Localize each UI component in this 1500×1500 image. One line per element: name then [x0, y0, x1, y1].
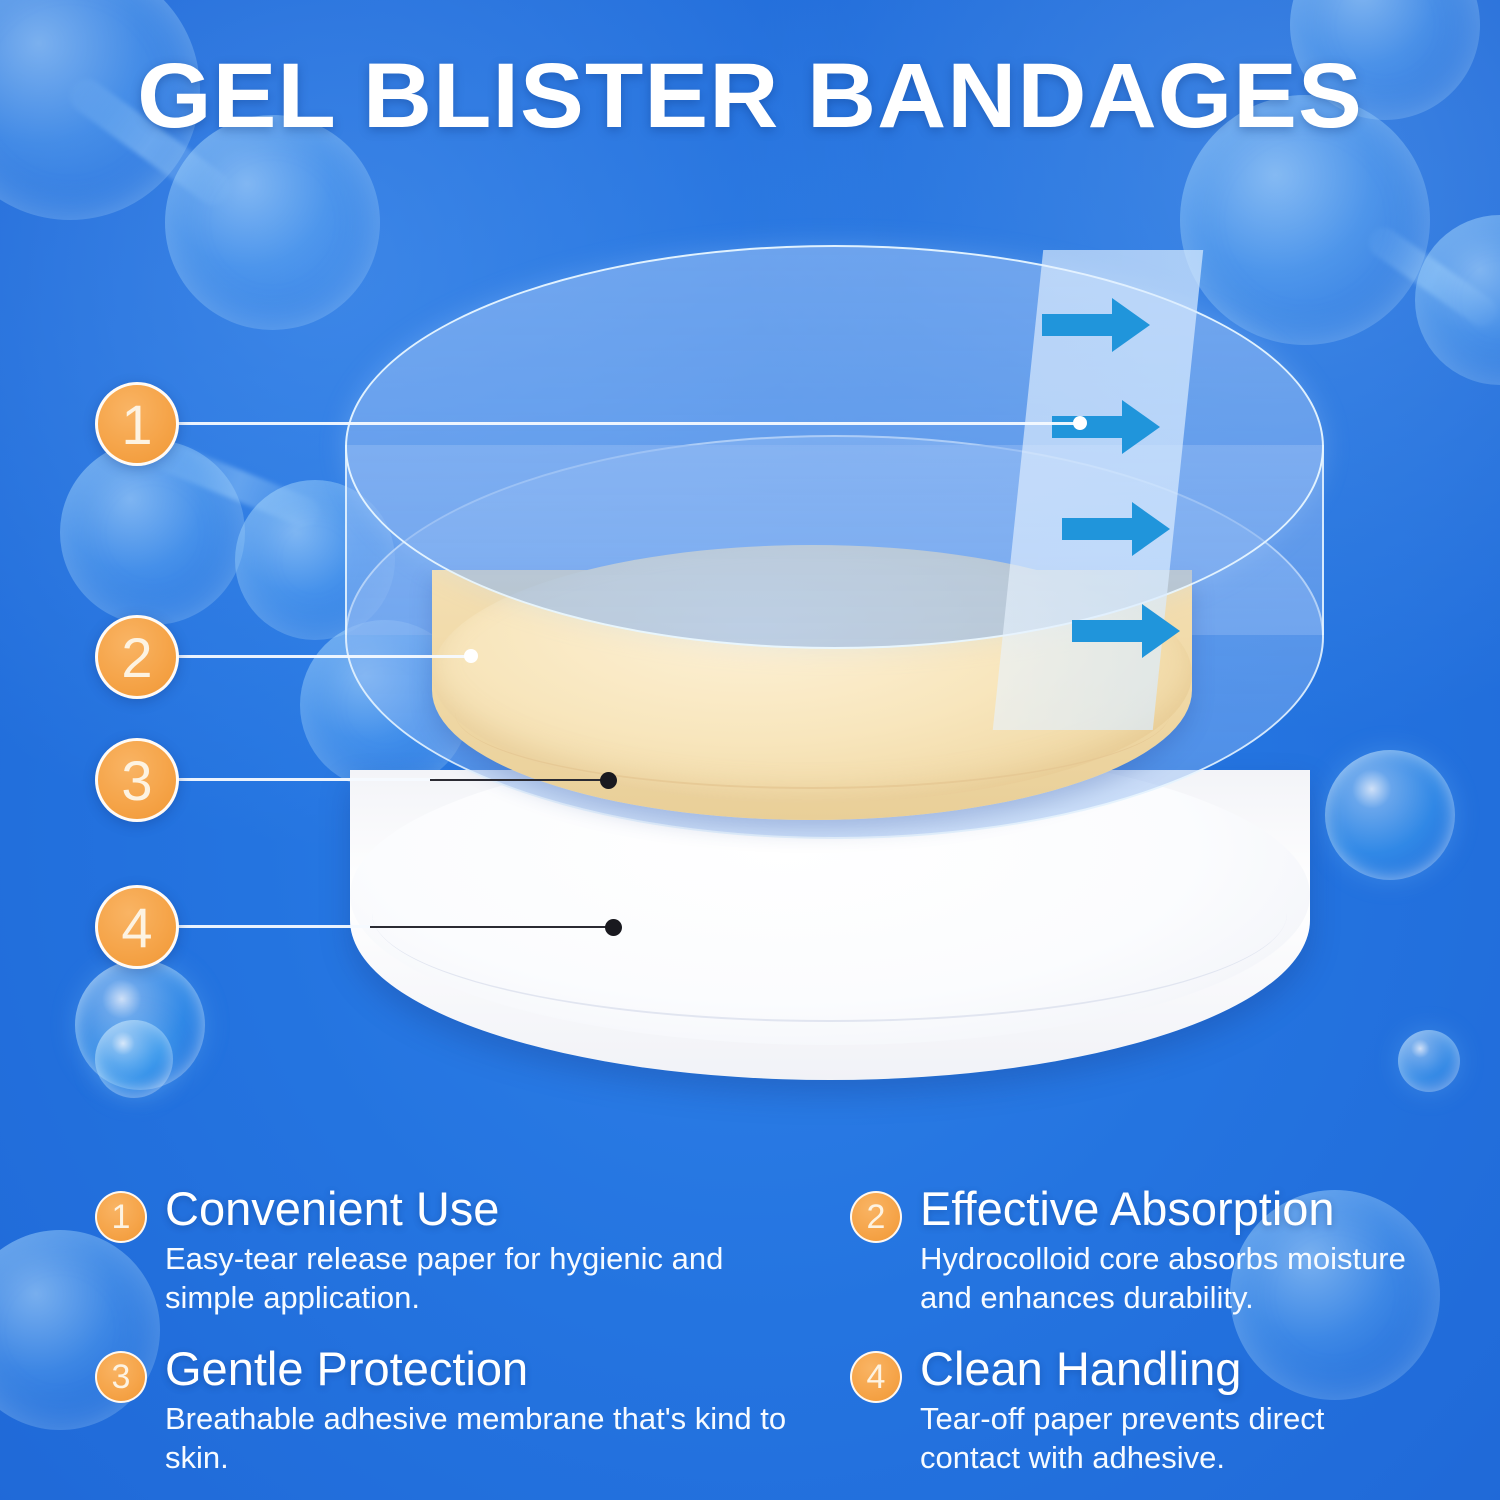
feature-item: 3 Gentle Protection Breathable adhesive …	[95, 1345, 850, 1477]
product-infographic: GEL BLISTER BANDAGES	[0, 0, 1500, 1500]
feature-number-badge: 4	[850, 1351, 902, 1403]
callout-marker-2[interactable]: 2	[95, 615, 179, 699]
feature-title: Clean Handling	[920, 1345, 1425, 1393]
callout-leader-4-light	[170, 925, 375, 928]
feature-item: 2 Effective Absorption Hydrocolloid core…	[850, 1185, 1425, 1317]
vapor-arrow-icon	[1042, 296, 1152, 354]
feature-text-block: Effective Absorption Hydrocolloid core a…	[920, 1185, 1425, 1317]
callout-number-3: 3	[121, 748, 152, 813]
callout-leader-4-dark	[370, 926, 615, 928]
vapor-arrow-icon	[1052, 398, 1162, 456]
callout-marker-4[interactable]: 4	[95, 885, 179, 969]
feature-number-badge: 3	[95, 1351, 147, 1403]
feature-title: Convenient Use	[165, 1185, 805, 1233]
callout-number-2: 2	[121, 625, 152, 690]
callout-leader-1	[170, 422, 1080, 425]
feature-item: 1 Convenient Use Easy-tear release paper…	[95, 1185, 850, 1317]
feature-text-block: Convenient Use Easy-tear release paper f…	[165, 1185, 805, 1317]
feature-number-badge: 2	[850, 1191, 902, 1243]
feature-description: Easy-tear release paper for hygienic and…	[165, 1239, 805, 1317]
callout-number-1: 1	[121, 392, 152, 457]
callout-dot-4	[605, 919, 622, 936]
callout-leader-3-dark	[430, 779, 610, 781]
feature-list: 1 Convenient Use Easy-tear release paper…	[95, 1185, 1425, 1477]
vapor-arrow-icon	[1072, 602, 1182, 660]
callout-marker-3[interactable]: 3	[95, 738, 179, 822]
callout-marker-1[interactable]: 1	[95, 382, 179, 466]
page-title: GEL BLISTER BANDAGES	[0, 44, 1500, 149]
callout-number-4: 4	[121, 895, 152, 960]
exploded-layer-diagram: 1 2 3 4	[0, 150, 1500, 1160]
callout-dot-2	[464, 649, 478, 663]
feature-item: 4 Clean Handling Tear-off paper prevents…	[850, 1345, 1425, 1477]
feature-description: Tear-off paper prevents direct contact w…	[920, 1399, 1425, 1477]
feature-title: Effective Absorption	[920, 1185, 1425, 1233]
callout-dot-3	[600, 772, 617, 789]
feature-text-block: Gentle Protection Breathable adhesive me…	[165, 1345, 805, 1477]
feature-number-badge: 1	[95, 1191, 147, 1243]
feature-title: Gentle Protection	[165, 1345, 805, 1393]
callout-leader-3-light	[170, 778, 435, 781]
callout-leader-2	[170, 655, 470, 658]
callout-dot-1	[1073, 416, 1087, 430]
vapor-arrow-icon	[1062, 500, 1172, 558]
feature-description: Breathable adhesive membrane that's kind…	[165, 1399, 805, 1477]
feature-text-block: Clean Handling Tear-off paper prevents d…	[920, 1345, 1425, 1477]
feature-description: Hydrocolloid core absorbs moisture and e…	[920, 1239, 1425, 1317]
